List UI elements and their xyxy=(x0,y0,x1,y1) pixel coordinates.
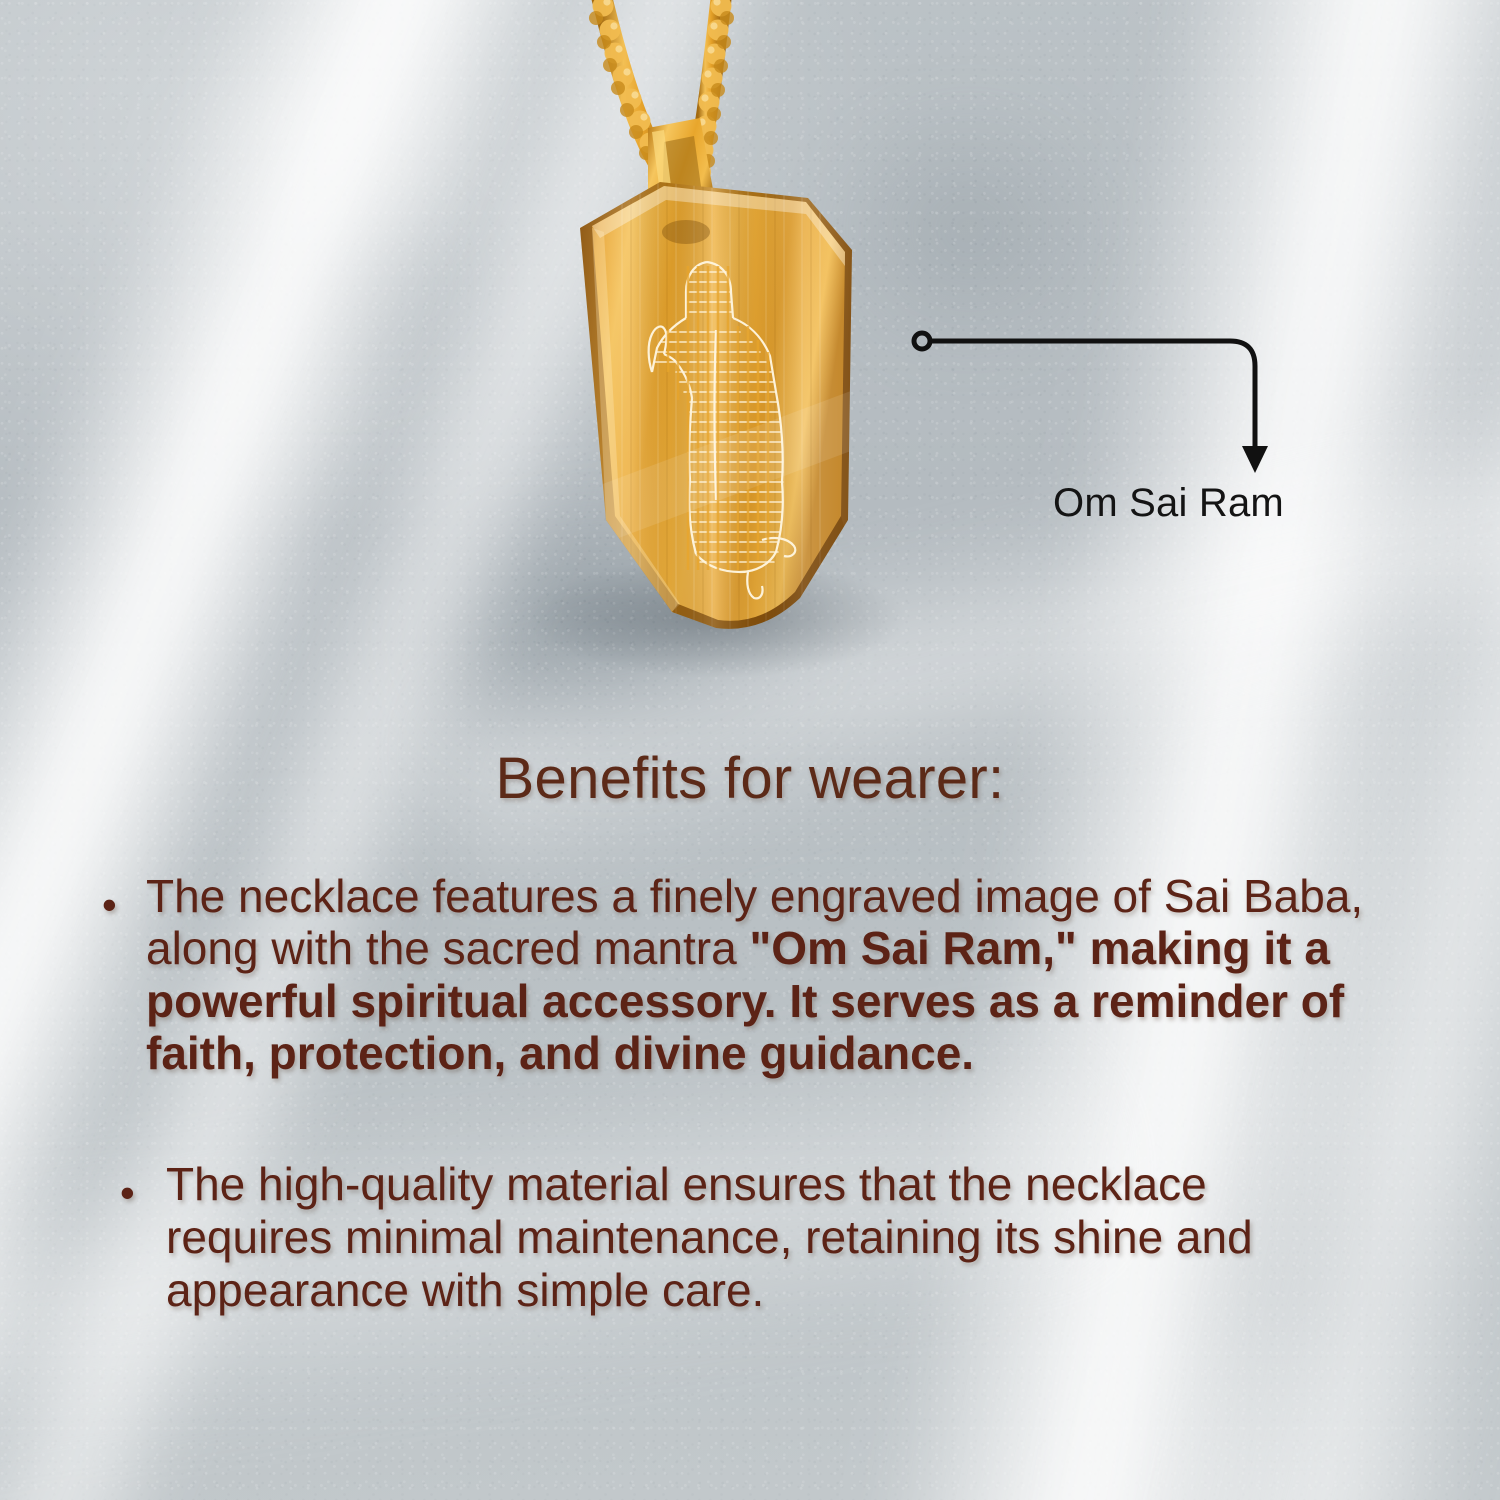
callout-arrow-icon xyxy=(1242,446,1268,473)
benefits-list: • The necklace features a finely engrave… xyxy=(0,870,1500,1318)
list-item: • The high-quality material ensures that… xyxy=(120,1158,1380,1318)
page-title: Benefits for wearer: xyxy=(0,745,1500,812)
callout-origin-marker xyxy=(914,333,930,349)
list-item: • The necklace features a finely engrave… xyxy=(96,870,1410,1080)
bullet-icon: • xyxy=(120,1172,135,1214)
callout-leader xyxy=(890,310,1310,510)
benefit-text-2: The high-quality material ensures that t… xyxy=(166,1158,1380,1318)
benefits-section: Benefits for wearer: • The necklace feat… xyxy=(0,745,1500,1318)
callout-line xyxy=(931,341,1255,450)
benefit-text-1: The necklace features a finely engraved … xyxy=(146,870,1410,1080)
product-infographic: Om Sai Ram Benefits for wearer: • The ne… xyxy=(0,0,1500,1500)
callout-label: Om Sai Ram xyxy=(1053,481,1284,526)
bullet-icon: • xyxy=(102,884,117,926)
